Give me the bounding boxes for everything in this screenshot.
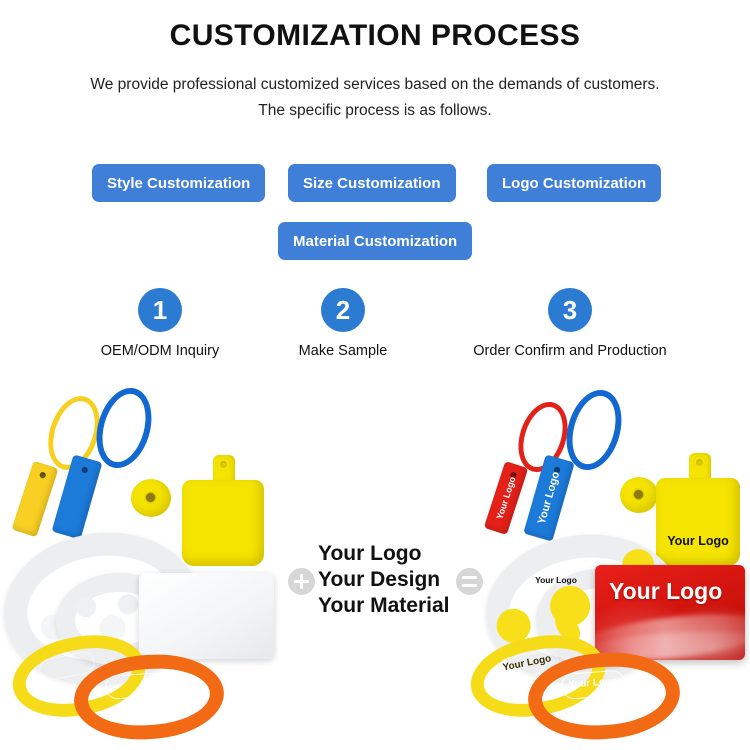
composition-center-copy: Your Logo Your Design Your Material [318, 541, 458, 619]
yellow-ear-tag-body-right: Your Logo [656, 478, 740, 566]
branded-products-group: Your Logo Your Logo Your Logo [460, 385, 750, 750]
page-subtitle: We provide professional customized servi… [0, 72, 750, 124]
yellow-ear-tag-body [182, 480, 264, 566]
step-3: 3 Order Confirm and Production [440, 288, 700, 359]
center-copy-line-2: Your Design [318, 567, 458, 593]
pill-size-customization[interactable]: Size Customization [288, 164, 456, 202]
step-3-label: Order Confirm and Production [440, 343, 700, 359]
step-2: 2 Make Sample [263, 288, 423, 359]
page-subtitle-line-2: The specific process is as follows. [0, 98, 750, 124]
plus-icon [288, 568, 315, 595]
red-seal-body: Your Logo [484, 461, 528, 535]
customization-process-infographic: CUSTOMIZATION PROCESS We provide profess… [0, 0, 750, 750]
ear-tag-logo-text: Your Logo [656, 534, 740, 548]
white-pvc-card [139, 573, 274, 659]
pill-style-customization[interactable]: Style Customization [92, 164, 265, 202]
wristband-logo-text: Your Logo Your Logo [534, 575, 578, 586]
step-1: 1 OEM/ODM Inquiry [60, 288, 260, 359]
pill-material-customization[interactable]: Material Customization [278, 222, 472, 260]
yellow-seal-body [12, 461, 59, 538]
yellow-button-ear-tag [131, 479, 171, 517]
step-2-label: Make Sample [263, 343, 423, 359]
step-2-number: 2 [321, 288, 365, 332]
red-card-logo-text: Your Logo [609, 578, 722, 605]
red-branded-card: Your Logo [595, 565, 745, 660]
blank-products-group [0, 385, 300, 750]
page-title: CUSTOMIZATION PROCESS [0, 19, 750, 53]
yellow-ear-tag-eye [217, 458, 230, 471]
step-1-label: OEM/ODM Inquiry [60, 343, 260, 359]
yellow-ear-tag-eye-right [693, 456, 706, 469]
page-subtitle-line-1: We provide professional customized servi… [0, 72, 750, 98]
wristband-logo-dot [549, 585, 592, 628]
yellow-button-ear-tag-right [620, 477, 658, 513]
center-copy-line-3: Your Material [318, 593, 458, 619]
step-1-number: 1 [138, 288, 182, 332]
wristband-logo-line1: Your Logo [534, 575, 578, 586]
blue-seal-logo-text: Your Logo [536, 470, 562, 525]
center-copy-line-1: Your Logo [318, 541, 458, 567]
step-3-number: 3 [548, 288, 592, 332]
pill-logo-customization[interactable]: Logo Customization [487, 164, 661, 202]
red-seal-logo-text: Your Logo [494, 475, 517, 520]
